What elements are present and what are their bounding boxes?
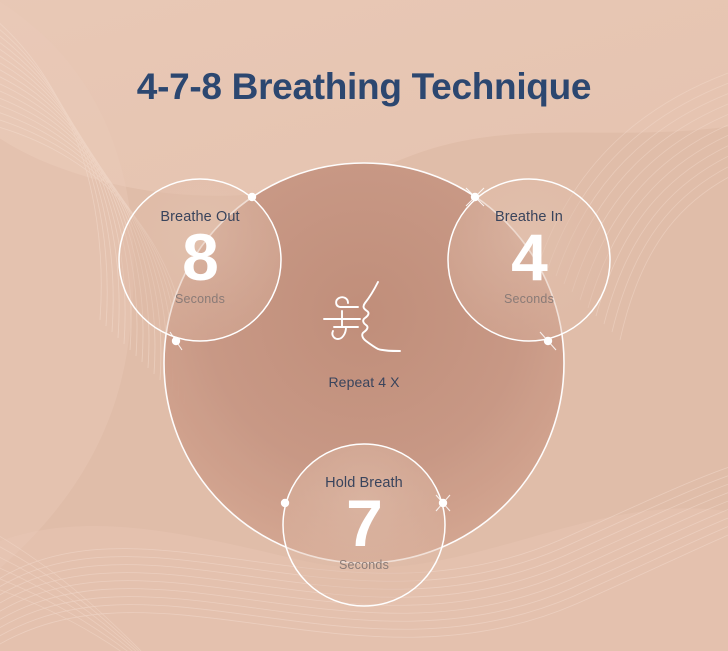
- node-hold-breath-number: 7: [264, 492, 464, 555]
- node-breathe-out-unit: Seconds: [100, 293, 300, 306]
- node-breathe-out-number: 8: [100, 226, 300, 289]
- node-breathe-in: Breathe In 4 Seconds: [429, 210, 629, 305]
- node-breathe-in-number: 4: [429, 226, 629, 289]
- repeat-label: Repeat 4 X: [264, 374, 464, 390]
- intersection-dot-top-left: [248, 193, 256, 201]
- node-breathe-out: Breathe Out 8 Seconds: [100, 210, 300, 305]
- node-hold-breath: Hold Breath 7 Seconds: [264, 476, 464, 571]
- page-title: 4-7-8 Breathing Technique: [0, 68, 728, 105]
- infographic-poster: 4-7-8 Breathing Technique Breathe Out 8 …: [0, 0, 728, 651]
- node-breathe-in-unit: Seconds: [429, 293, 629, 306]
- face-profile-breathing-icon: [312, 281, 416, 359]
- node-hold-breath-unit: Seconds: [264, 559, 464, 572]
